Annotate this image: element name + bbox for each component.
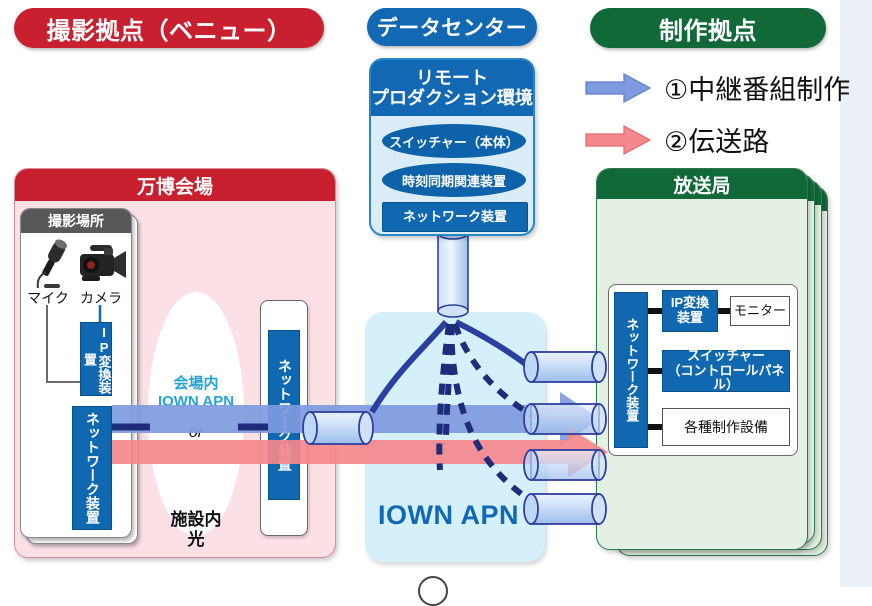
header-data-center-label: データセンター [377,12,528,42]
venue-title-label: 万博会場 [137,172,213,199]
connector-stub-2 [648,368,662,374]
broadcast-monitor-label: モニター [734,304,786,319]
dc-device-timesync: 時刻同期関連装置 [382,163,526,197]
remote-production-title: リモート プロダクション環境 [371,60,533,116]
connector-stub-3 [648,424,662,430]
camera-icon [74,236,130,290]
microphone-icon [26,238,76,290]
broadcast-ip-converter: IP変換 装置 [662,290,718,332]
legend-item-1: ②伝送路 [586,120,769,159]
dc-device-timesync-label: 時刻同期関連装置 [402,171,506,190]
broadcast-title: 放送局 [597,169,807,199]
venue-ip-converter: IP変換装置 [80,322,112,396]
legend-label-1: ②伝送路 [664,120,769,159]
venue-edge-network-device: ネットワーク装置 [268,330,300,500]
diagram-canvas: 撮影拠点（ベニュー） データセンター 制作拠点 ①中継番組制作 ②伝送路 リモー… [0,0,872,587]
venue-ellipse-or-label: or [148,424,244,442]
venue-ip-converter-label: IP変換装置 [81,323,110,395]
red-arrow-icon [586,125,652,155]
remote-production-card: リモート プロダクション環境 スイッチャー（本体） 時刻同期関連装置 ネットワー… [369,58,535,236]
header-production-site-label: 制作拠点 [659,11,757,46]
dc-device-switcher: スイッチャー（本体） [382,124,526,158]
header-data-center: データセンター [367,8,537,46]
blue-arrow-icon [586,73,652,103]
dc-fiber-trunk [434,225,472,325]
connector-stub-1 [648,308,662,314]
broadcast-switcher-label: スイッチャー （コントロールパネル） [663,349,789,393]
legend-item-0: ①中継番組制作 [586,68,850,107]
microphone-label: マイク [22,288,74,308]
shooting-place-title-label: 撮影場所 [48,211,104,231]
dc-device-switcher-label: スイッチャー（本体） [389,132,519,151]
legend-label-0: ①中継番組制作 [664,68,850,107]
broadcast-switcher: スイッチャー （コントロールパネル） [662,350,790,392]
venue-ellipse-bottom-label: 施設内 光 [148,490,244,570]
header-venue-site: 撮影拠点（ベニュー） [14,8,324,48]
venue-ellipse-top-label: 会場内 IOWN APN [148,358,244,427]
shooting-place-title: 撮影場所 [21,209,131,233]
broadcast-title-label: 放送局 [673,171,730,198]
header-venue-site-label: 撮影拠点（ベニュー） [47,11,292,46]
venue-edge-network-device-label: ネットワーク装置 [276,359,292,471]
iown-apn-label: IOWN APN [378,500,519,530]
venue-title: 万博会場 [15,169,335,201]
venue-network-device-label: ネットワーク装置 [84,412,100,524]
camera-label: カメラ [72,288,130,308]
header-production-site: 制作拠点 [590,8,826,48]
broadcast-ip-converter-label: IP変換 装置 [671,296,709,325]
broadcast-equipment-label: 各種制作設備 [684,419,768,435]
dc-device-network-label: ネットワーク装置 [403,210,507,225]
bottom-cut-marker [418,576,448,606]
iown-apn-label-wrap: IOWN APN [378,500,519,531]
remote-production-title-label: リモート プロダクション環境 [371,68,533,108]
broadcast-equipment: 各種制作設備 [662,408,790,446]
broadcast-monitor: モニター [730,296,790,326]
venue-network-device: ネットワーク装置 [72,406,112,530]
connector-stub-4 [718,308,730,314]
dc-device-network: ネットワーク装置 [382,202,528,232]
broadcast-network-device: ネットワーク装置 [614,292,648,448]
broadcast-network-device-label: ネットワーク装置 [624,318,639,422]
